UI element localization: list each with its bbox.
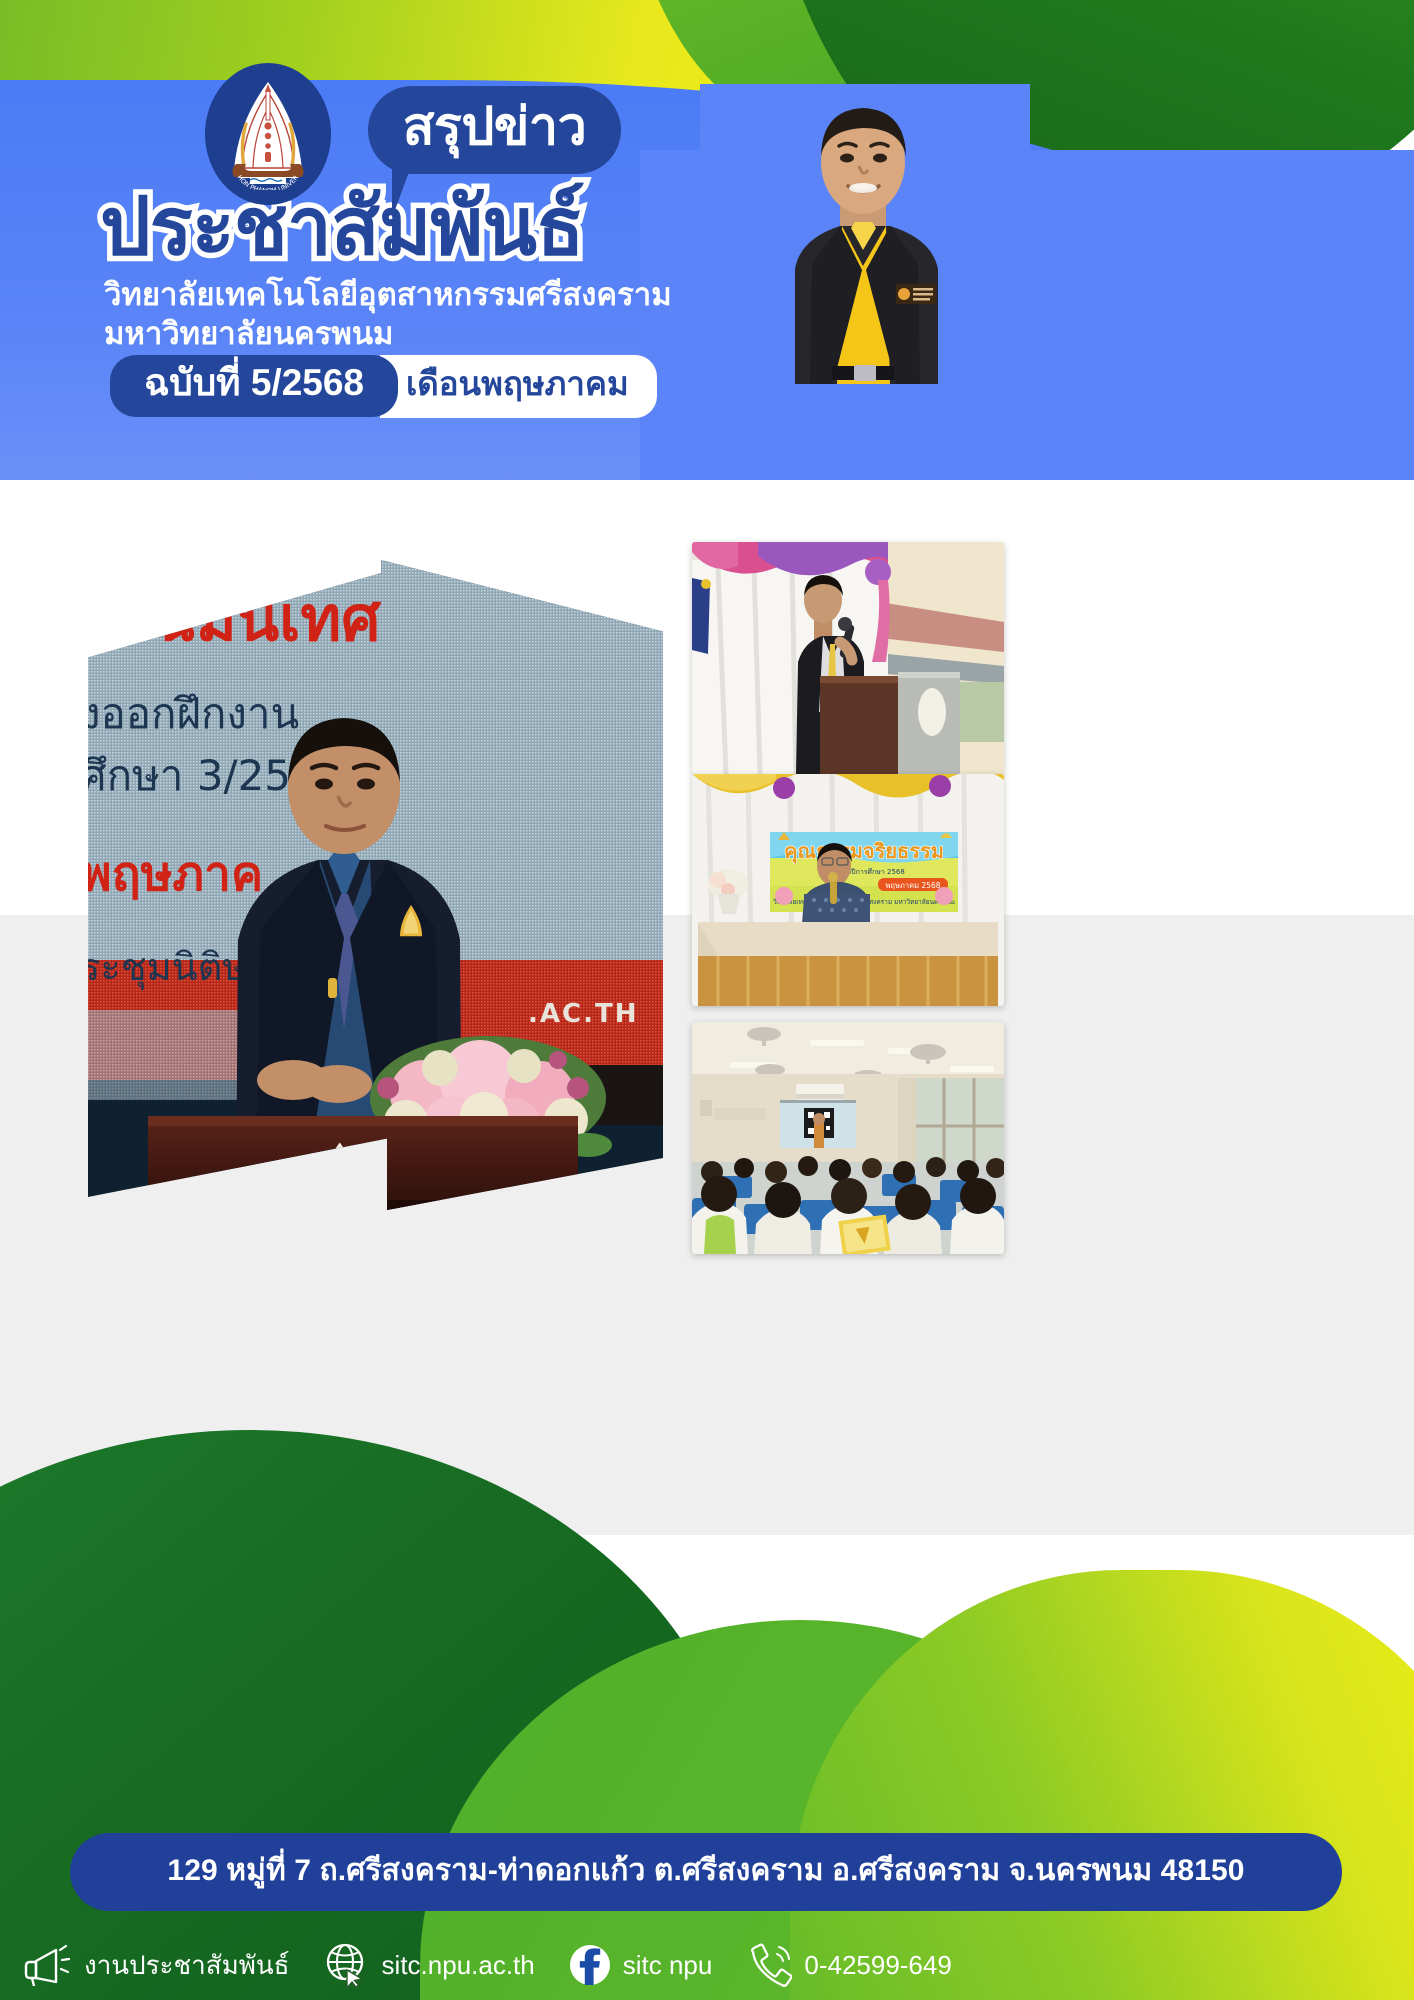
svg-text:.AC.TH: .AC.TH (528, 999, 638, 1029)
contact-phone-label: 0-42599-649 (804, 1951, 951, 1980)
contact-website-label: sitc.npu.ac.th (382, 1951, 535, 1980)
organization-name: วิทยาลัยเทคโนโลยีอุตสาหกรรมศรีสงคราม มหา… (104, 276, 672, 354)
facebook-icon (569, 1944, 611, 1986)
contact-pr: งานประชาสัมพันธ์ (22, 1944, 290, 1986)
address-bar: 129 หมู่ที่ 7 ถ.ศรีสงคราม-ท่าดอกแก้ว ต.ศ… (70, 1833, 1342, 1911)
globe-cursor-icon (324, 1941, 370, 1989)
contact-facebook-label: sitc npu (623, 1951, 713, 1980)
contact-website[interactable]: sitc.npu.ac.th (324, 1941, 535, 1989)
address-text: 129 หมู่ที่ 7 ถ.ศรีสงคราม-ท่าดอกแก้ว ต.ศ… (167, 1854, 1244, 1891)
outdoor-ceremony-photo (692, 542, 1004, 774)
svg-text:งออกฝึกงาน: งออกฝึกงาน (88, 689, 299, 738)
news-summary-bubble: สรุปข่าว (368, 86, 621, 174)
page-title: ประชาสัมพันธ์ (100, 186, 584, 268)
phone-icon (746, 1943, 792, 1987)
contact-pr-label: งานประชาสัมพันธ์ (84, 1951, 290, 1980)
contact-row: งานประชาสัมพันธ์ sitc.npu.ac.th (22, 1934, 986, 1996)
director-portrait (700, 84, 1030, 384)
megaphone-icon (22, 1944, 72, 1986)
poster-canvas: NAKHON PHANOM UNIVERSITY สรุปข่าว ประชาส… (0, 0, 1414, 2000)
svg-text:ศึกษา 3/256: ศึกษา 3/256 (88, 751, 318, 800)
org-line-1: วิทยาลัยเทคโนโลยีอุตสาหกรรมศรีสงคราม (104, 276, 672, 315)
svg-text:บจฉิมนิเทศ: บจฉิมนิเทศ (88, 582, 382, 655)
podium-speech-photo: บจฉิมนิเทศ งออกฝึกงาน ศึกษา 3/256 พฤษภาค… (88, 560, 663, 1210)
bubble-label: สรุปข่าว (403, 101, 587, 159)
issue-number-badge: ฉบับที่ 5/2568 (110, 355, 398, 417)
npu-university-seal-icon: NAKHON PHANOM UNIVERSITY (205, 63, 331, 205)
issue-month-label: เดือนพฤษภาคม (380, 355, 657, 418)
org-line-2: มหาวิทยาลัยนครพนม (104, 315, 672, 354)
svg-text:พฤษภาคม 2568: พฤษภาคม 2568 (885, 881, 940, 890)
classroom-audience-photo (692, 1022, 1004, 1254)
contact-facebook[interactable]: sitc npu (569, 1944, 713, 1986)
svg-text:คุณธรรมจริยธรรม: คุณธรรมจริยธรรม (784, 839, 944, 864)
svg-text:ระชุมนิติษ: ระชุมนิติษ (88, 945, 247, 990)
svg-text:พฤษภาค: พฤษภาค (88, 846, 263, 902)
ethics-seminar-photo: คุณธรรมจริยธรรม ประจำปีการศึกษา 2568 พฤษ… (692, 774, 1004, 1006)
contact-phone[interactable]: 0-42599-649 (746, 1943, 951, 1987)
issue-info-row: เดือนพฤษภาคม ฉบับที่ 5/2568 (110, 355, 657, 418)
